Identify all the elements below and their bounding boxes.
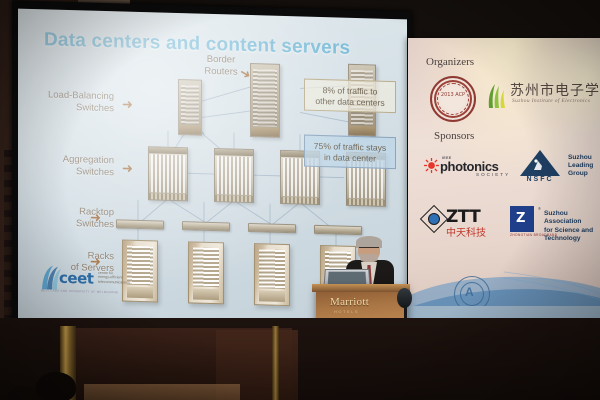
suzhou-leading-line3: Group — [568, 170, 600, 178]
photonics-society-word: SOCIETY — [476, 172, 510, 177]
zhongtian-mark-letter: Z — [516, 211, 525, 226]
speaker-beard — [360, 254, 378, 263]
label-load-balancing-line2: Switches — [28, 101, 114, 115]
audience-head-silhouette — [36, 372, 76, 400]
ztt-diamond-icon — [420, 205, 448, 233]
microphone-head-icon — [397, 288, 412, 308]
ceet-wordmark: ceet — [59, 269, 93, 288]
speaker-glasses-icon — [359, 247, 379, 252]
nsfc-wordmark: NSFC — [518, 176, 562, 183]
suzhou-institute-leaf-icon — [482, 82, 508, 110]
arrow-racktop-icon: ➜ — [90, 211, 101, 224]
sponsor-suzhou-association: Suzhou Association for Science and Techn… — [544, 210, 600, 244]
load-balancing-switch-device — [178, 79, 202, 136]
photonics-sun-icon — [424, 158, 439, 173]
aggregation-switch-2 — [214, 148, 254, 203]
suzhou-assoc-line3: Technology — [544, 235, 600, 243]
lectern-brand-sub: HOTELS — [334, 309, 359, 314]
callout-2-line2: in data center — [311, 152, 389, 165]
racktop-switch-1 — [116, 219, 164, 229]
suzhou-assoc-line2: for Science and — [544, 227, 600, 235]
label-aggregation-switches: Aggregation Switches — [28, 153, 114, 179]
label-racktop-switches: Racktop Switches — [28, 205, 114, 231]
gold-column-2 — [272, 326, 279, 400]
label-racktop-line2: Switches — [28, 217, 114, 231]
banner-emblem-letter: A — [465, 285, 474, 299]
callout-1-line2: other data centers — [311, 96, 389, 109]
zhongtian-tm-icon: ® — [538, 206, 541, 211]
nsfc-figure-icon — [532, 158, 544, 172]
server-rack-2 — [188, 241, 224, 304]
server-rack-3 — [254, 243, 290, 306]
ceet-tagline: centre for energy-efficient telecommunic… — [98, 271, 138, 285]
lectern-brand-label: Marriott — [330, 296, 369, 308]
aggregation-switch-1 — [148, 146, 188, 201]
sponsor-logo-ztt: ZTT 中天科技 — [424, 206, 504, 238]
racktop-switch-2 — [182, 221, 230, 231]
organizer-seal-text: 2013 ACP — [437, 83, 469, 115]
suzhou-leading-line1: Suzhou — [568, 154, 600, 162]
banner-heading-sponsors: Sponsors — [434, 130, 474, 142]
racktop-switch-4 — [314, 225, 362, 235]
arrow-load-balancing-icon: ➜ — [122, 97, 133, 110]
suzhou-leading-line2: Leading — [568, 162, 600, 170]
ceet-logo: ceet centre for energy-efficient telecom… — [40, 263, 136, 296]
callout-traffic-stays-in-datacenter: 75% of traffic stays in data center — [304, 135, 396, 170]
sponsor-logo-ieee-photonics: IEEE photonics SOCIETY — [424, 156, 510, 180]
ceet-footer: BELL LABS AND UNIVERSITY OF MELBOURNE — [41, 288, 135, 295]
lectern-top-edge — [312, 284, 410, 292]
callout-traffic-other-datacenters: 8% of traffic to other data centers — [304, 79, 396, 114]
ztt-chinese-name: 中天科技 — [446, 224, 486, 239]
zhongtian-mark-icon: Z — [510, 206, 534, 232]
racktop-switch-3 — [248, 223, 296, 233]
label-load-balancing-switches: Load-Balancing Switches — [28, 89, 114, 115]
wood-lower-panel — [84, 384, 240, 400]
banner-heading-organizers: Organizers — [426, 56, 474, 68]
ceet-tagline-3: telecommunications — [98, 280, 138, 286]
conference-photo-scene: Data centers and content servers — [0, 0, 600, 400]
sponsor-logo-nsfc: NSFC — [518, 150, 562, 186]
label-aggregation-line2: Switches — [28, 165, 114, 179]
organizer-english-name: Suzhou Institute of Electronics — [512, 98, 590, 104]
suzhou-assoc-line1: Suzhou Association — [544, 210, 600, 227]
sponsor-suzhou-leading-group: Suzhou Leading Group — [568, 154, 600, 178]
arrow-aggregation-icon: ➜ — [122, 161, 133, 174]
organizer-chinese-name: 苏州市电子学会 — [510, 80, 600, 100]
organizer-seal-logo: 2013 ACP — [430, 76, 476, 122]
